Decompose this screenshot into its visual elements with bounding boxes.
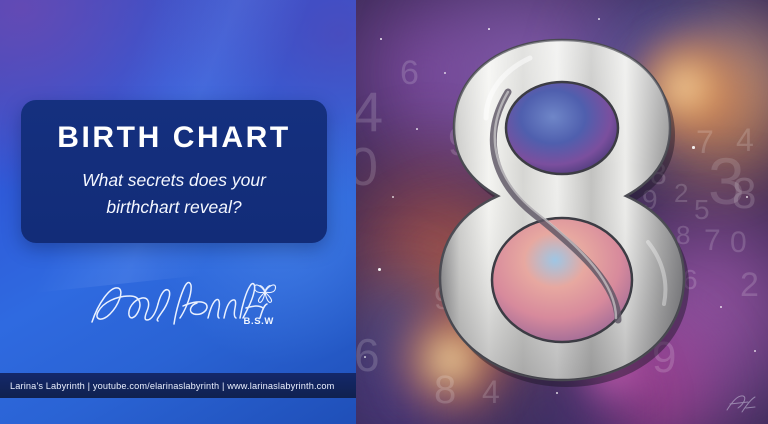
signature-credential: B.S.W — [244, 316, 274, 327]
footer-text: Larina's Labyrinth | youtube.com/elarina… — [0, 381, 334, 391]
subtitle-line-1: What secrets does your — [82, 167, 266, 194]
subtitle-line-2: birthchart reveal? — [82, 194, 266, 221]
cosmic-artwork-panel: 4 0 6 4 9 3 6 7 4 3 8 9 2 5 8 8 7 0 6 2 … — [356, 0, 768, 424]
subtitle: What secrets does your birthchart reveal… — [82, 167, 266, 220]
butterfly-icon — [252, 278, 278, 304]
title-card: BIRTH CHART What secrets does your birth… — [21, 100, 327, 243]
metallic-numeral-8 — [412, 32, 712, 392]
footer-bar: Larina's Labyrinth | youtube.com/elarina… — [0, 373, 356, 398]
signature-block: B.S.W — [84, 278, 274, 340]
page-title: BIRTH CHART — [57, 123, 291, 153]
artist-signature-mark — [724, 390, 758, 416]
promo-graphic: BIRTH CHART What secrets does your birth… — [0, 0, 768, 424]
